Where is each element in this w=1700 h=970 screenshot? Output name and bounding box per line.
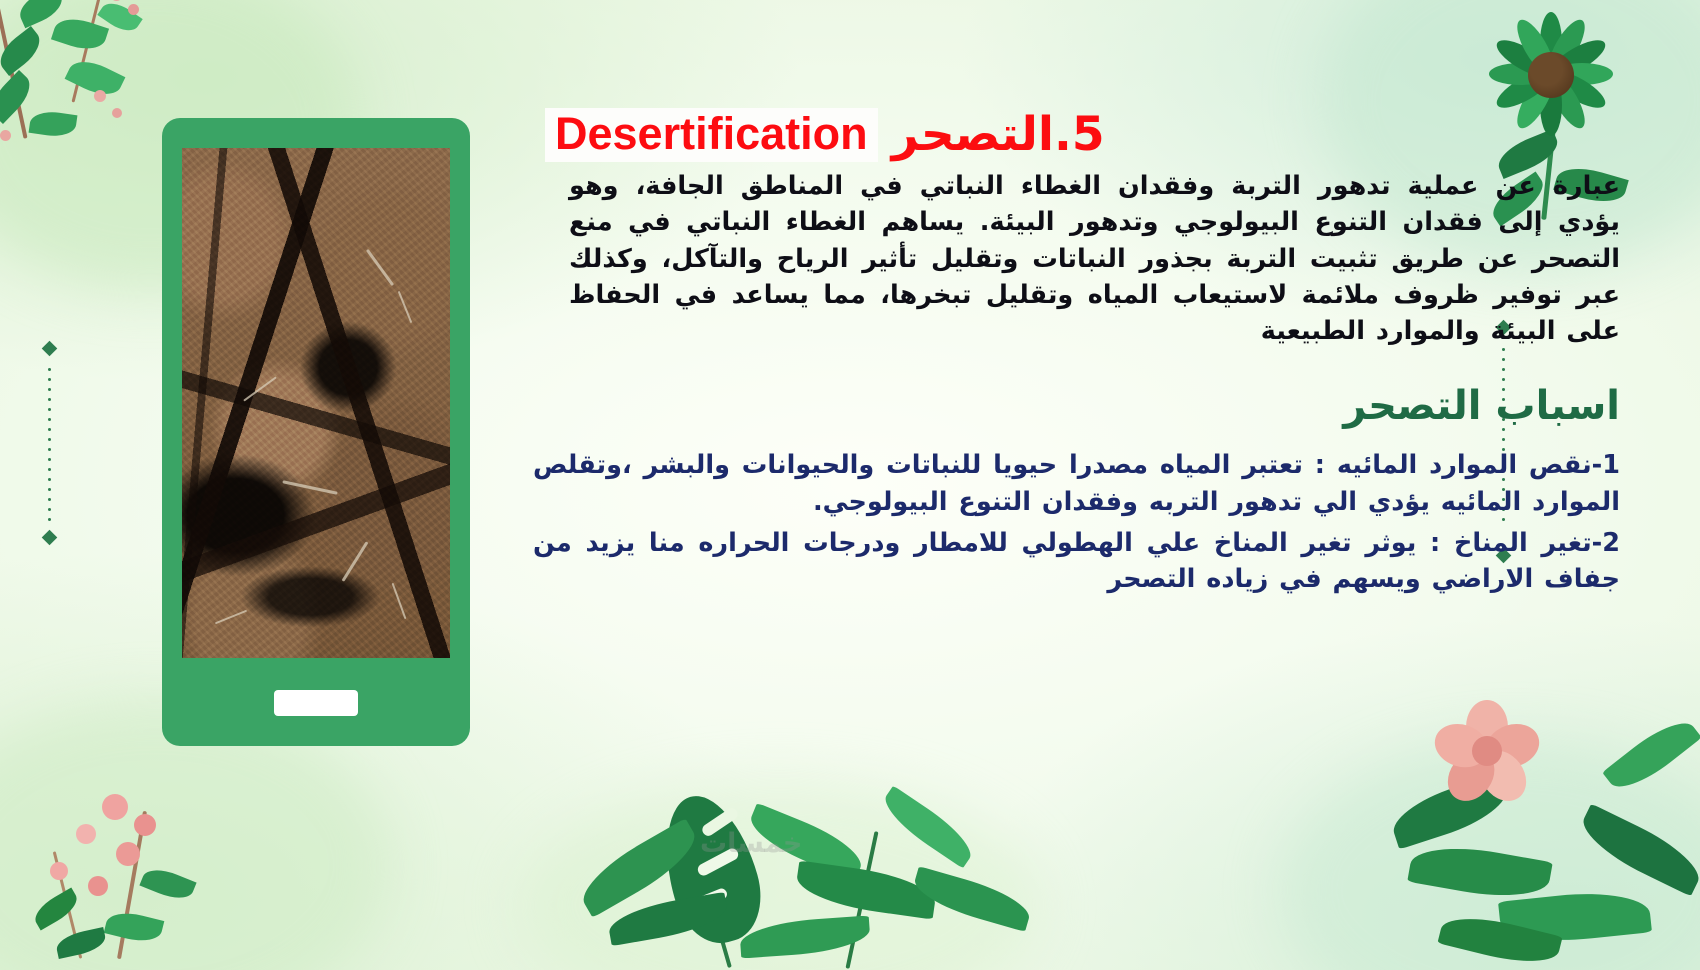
background-blotch bbox=[1280, 740, 1700, 970]
page-title-english: Desertification bbox=[545, 108, 878, 162]
watermark-text: خمسات bbox=[700, 828, 802, 859]
slide-canvas: 5.التصحر Desertification عبارة عن عملية … bbox=[0, 0, 1700, 970]
leaf bbox=[1574, 804, 1700, 897]
flower-petal bbox=[1481, 717, 1545, 774]
bottom-left-blossom-decoration bbox=[10, 780, 250, 970]
leaf bbox=[29, 109, 78, 139]
leaf bbox=[1407, 838, 1553, 906]
leaf bbox=[97, 0, 142, 37]
leaf bbox=[1498, 886, 1652, 947]
berry bbox=[0, 130, 11, 141]
flower-petal bbox=[1470, 742, 1536, 810]
blossom bbox=[116, 842, 140, 866]
flower-petal bbox=[1489, 63, 1551, 85]
berry bbox=[110, 0, 123, 1]
cause-item-1: 1-نقص الموارد المائيه : تعتبر المياه مصد… bbox=[505, 447, 1620, 520]
leaf bbox=[573, 818, 706, 918]
flower-center bbox=[1472, 736, 1502, 766]
leaf bbox=[1386, 772, 1513, 849]
leaf-stem bbox=[692, 842, 732, 968]
phone-screen bbox=[182, 148, 450, 658]
monstera-leaf-notch bbox=[687, 887, 728, 912]
leaf bbox=[1437, 908, 1562, 970]
left-rail-diamond-bottom bbox=[42, 530, 58, 546]
flower-center bbox=[1528, 52, 1574, 98]
leaf bbox=[0, 26, 47, 76]
leaf bbox=[606, 892, 730, 946]
branch-stem bbox=[0, 0, 28, 139]
flower-petal bbox=[1492, 33, 1557, 83]
leaf bbox=[15, 0, 68, 28]
intro-paragraph: عبارة عن عملية تدهور التربة وفقدان الغطا… bbox=[505, 168, 1620, 349]
bottom-center-leaves-decoration bbox=[560, 770, 1080, 970]
leaf bbox=[104, 908, 165, 947]
leaf bbox=[54, 927, 107, 959]
leaf bbox=[0, 70, 38, 124]
phone-mockup bbox=[162, 118, 470, 746]
blossom bbox=[50, 862, 68, 880]
blossom bbox=[88, 876, 108, 896]
flower-petal bbox=[1546, 33, 1611, 83]
leaf bbox=[30, 887, 83, 930]
flower-petal bbox=[1438, 742, 1504, 810]
slide-text-content: 5.التصحر Desertification عبارة عن عملية … bbox=[505, 108, 1620, 598]
flower-petal bbox=[1541, 15, 1591, 80]
branch-stem bbox=[53, 851, 83, 958]
berry bbox=[112, 108, 122, 118]
flower-petal bbox=[1551, 63, 1613, 85]
leaf bbox=[739, 916, 871, 959]
leaf bbox=[910, 866, 1035, 932]
cracked-soil-image bbox=[182, 148, 450, 658]
leaf bbox=[51, 13, 109, 56]
branch-stem bbox=[72, 0, 104, 103]
phone-home-bar[interactable] bbox=[274, 690, 358, 716]
branch-stem bbox=[117, 811, 147, 959]
leaf bbox=[65, 54, 126, 103]
left-rail-diamond-top bbox=[42, 341, 58, 357]
berry bbox=[128, 4, 139, 15]
leaf bbox=[877, 785, 980, 868]
background-blotch bbox=[520, 780, 1040, 970]
monstera-leaf bbox=[649, 785, 773, 953]
bottom-right-flower-decoration bbox=[1380, 680, 1700, 970]
berry bbox=[94, 90, 106, 102]
leaf-stem bbox=[845, 831, 878, 969]
blossom bbox=[76, 824, 96, 844]
flower-petal bbox=[1466, 700, 1508, 754]
causes-heading: اسباب التصحر bbox=[505, 383, 1620, 429]
leaf bbox=[1602, 711, 1700, 799]
blossom bbox=[102, 794, 128, 820]
flower-petal bbox=[1540, 12, 1562, 74]
flower-petal bbox=[1429, 717, 1493, 774]
blossom bbox=[134, 814, 156, 836]
leaf bbox=[794, 860, 938, 919]
cause-item-2: 2-تغير المناخ : يوثر تغير المناخ علي اله… bbox=[505, 525, 1620, 598]
left-dotted-rail bbox=[48, 368, 51, 528]
leaf bbox=[139, 863, 196, 905]
slide-title-row: 5.التصحر Desertification bbox=[505, 108, 1620, 162]
page-title-arabic: 5.التصحر bbox=[892, 110, 1105, 159]
flower-petal bbox=[1510, 15, 1560, 80]
